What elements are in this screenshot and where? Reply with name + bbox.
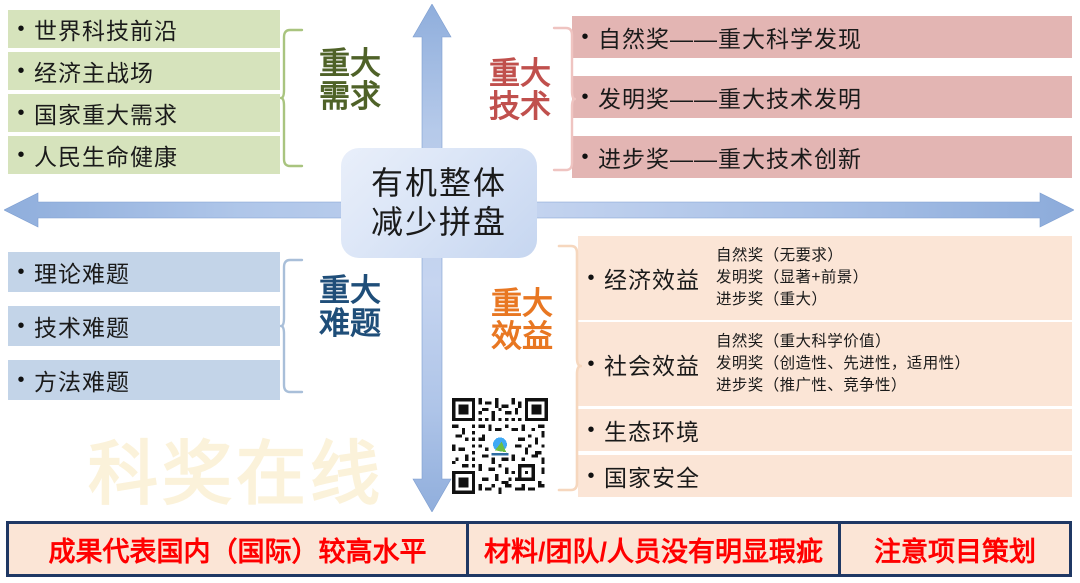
- bullet-icon: •: [8, 316, 34, 336]
- problem-item-1-label: 技术难题: [34, 309, 130, 343]
- benefit-item-0[interactable]: • 经济效益 自然奖（无要求） 发明奖（显著+前景） 进步奖（重大）: [578, 236, 1072, 320]
- bullet-icon: •: [8, 370, 34, 390]
- banner-cell-1[interactable]: 材料/团队/人员没有明显瑕疵: [469, 524, 841, 574]
- vertical-axis-arrow: [412, 4, 452, 512]
- slide-canvas: 科奖在线 • 世界科技前沿: [0, 0, 1080, 583]
- problem-item-1[interactable]: • 技术难题: [8, 306, 280, 346]
- need-brace-icon: [280, 28, 304, 168]
- bullet-icon: •: [8, 262, 34, 282]
- need-group-label: 重大 需求: [305, 48, 395, 113]
- benefit-item-0-label: 经济效益: [604, 261, 700, 295]
- need-item-2-label: 国家重大需求: [34, 96, 178, 130]
- need-item-0-label: 世界科技前沿: [34, 12, 178, 46]
- benefit-item-0-detail: 自然奖（无要求） 发明奖（显著+前景） 进步奖（重大）: [716, 245, 869, 311]
- tech-item-1[interactable]: • 发明奖——重大技术发明: [572, 76, 1072, 118]
- tech-group-label: 重大 技术: [482, 58, 558, 123]
- benefit-item-1-label: 社会效益: [604, 347, 700, 381]
- bottom-banner: 成果代表国内（国际）较高水平 材料/团队/人员没有明显瑕疵 注意项目策划: [6, 521, 1072, 577]
- benefit-item-2-label: 生态环境: [604, 413, 700, 447]
- horizontal-axis-arrow: [4, 192, 1074, 228]
- tech-item-2-label: 进步奖——重大技术创新: [598, 140, 862, 174]
- center-message-box[interactable]: 有机整体 减少拼盘: [341, 148, 537, 258]
- problem-item-0-label: 理论难题: [34, 255, 130, 289]
- bullet-icon: •: [8, 19, 34, 39]
- qr-code[interactable]: [452, 398, 548, 494]
- problem-item-2[interactable]: • 方法难题: [8, 360, 280, 400]
- benefit-item-3-label: 国家安全: [604, 459, 700, 493]
- watermark-text: 科奖在线: [88, 418, 384, 519]
- problem-brace-icon: [280, 258, 304, 394]
- problem-group-label: 重大 难题: [305, 275, 395, 340]
- problem-item-0[interactable]: • 理论难题: [8, 252, 280, 292]
- benefit-group-label: 重大 效益: [484, 288, 560, 353]
- tech-item-0-label: 自然奖——重大科学发现: [598, 20, 862, 54]
- tech-item-1-label: 发明奖——重大技术发明: [598, 80, 862, 114]
- banner-cell-0[interactable]: 成果代表国内（国际）较高水平: [9, 524, 469, 574]
- tech-item-0[interactable]: • 自然奖——重大科学发现: [572, 16, 1072, 58]
- benefit-item-1[interactable]: • 社会效益 自然奖（重大科学价值） 发明奖（创造性、先进性，适用性） 进步奖（…: [578, 322, 1072, 406]
- benefit-brace-icon: [556, 244, 582, 492]
- bullet-icon: •: [8, 145, 34, 165]
- need-item-3[interactable]: • 人民生命健康: [8, 136, 280, 174]
- need-item-1-label: 经济主战场: [34, 54, 154, 88]
- need-item-2[interactable]: • 国家重大需求: [8, 94, 280, 132]
- center-line-2: 减少拼盘: [371, 203, 507, 242]
- center-line-1: 有机整体: [371, 164, 507, 203]
- benefit-item-1-detail: 自然奖（重大科学价值） 发明奖（创造性、先进性，适用性） 进步奖（推广性、竞争性…: [716, 331, 970, 397]
- need-item-0[interactable]: • 世界科技前沿: [8, 10, 280, 48]
- benefit-item-3[interactable]: • 国家安全: [578, 455, 1072, 497]
- need-item-3-label: 人民生命健康: [34, 138, 178, 172]
- banner-cell-2[interactable]: 注意项目策划: [841, 524, 1069, 574]
- bullet-icon: •: [8, 61, 34, 81]
- benefit-item-2[interactable]: • 生态环境: [578, 409, 1072, 451]
- tech-item-2[interactable]: • 进步奖——重大技术创新: [572, 136, 1072, 178]
- need-item-1[interactable]: • 经济主战场: [8, 52, 280, 90]
- problem-item-2-label: 方法难题: [34, 363, 130, 397]
- bullet-icon: •: [8, 103, 34, 123]
